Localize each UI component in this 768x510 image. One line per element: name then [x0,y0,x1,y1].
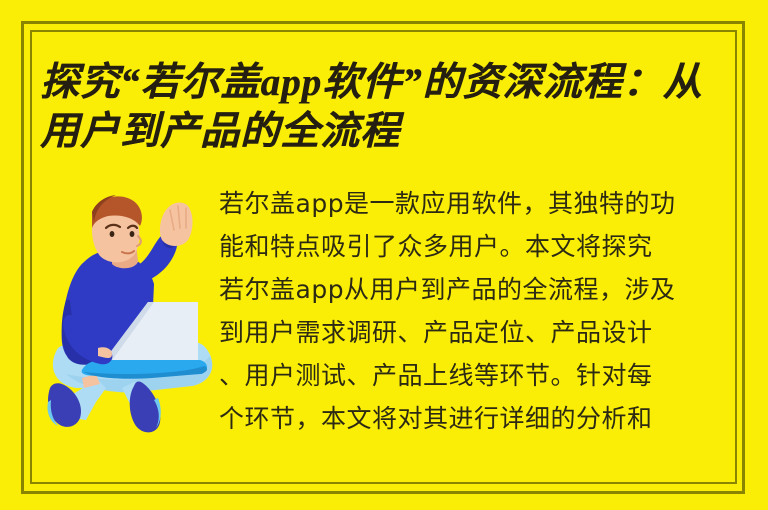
body-line-1: 若尔盖app是一款应用软件，其独特的功 [219,182,736,225]
title-line-1: 探究“若尔盖app软件”的资深流程：从 [40,58,740,107]
title-line-2: 用户到产品的全流程 [40,107,740,156]
body-line-2: 能和特点吸引了众多用户。本文将探究 [219,225,736,268]
body-line-6: 个环节，本文将对其进行详细的分析和 [219,397,736,440]
body-line-4: 到用户需求调研、产品定位、产品设计 [219,311,736,354]
page-title: 探究“若尔盖app软件”的资深流程：从 用户到产品的全流程 [40,58,740,156]
body-line-3: 若尔盖app从用户到产品的全流程，涉及 [219,268,736,311]
poster-canvas: 探究“若尔盖app软件”的资深流程：从 用户到产品的全流程 [0,0,768,510]
article-excerpt: 若尔盖app是一款应用软件，其独特的功 能和特点吸引了众多用户。本文将探究 若尔… [219,182,736,440]
body-line-5: 、用户测试、产品上线等环节。针对每 [219,354,736,397]
raised-hand [160,203,193,246]
man-sitting-with-laptop-illustration [42,188,222,436]
